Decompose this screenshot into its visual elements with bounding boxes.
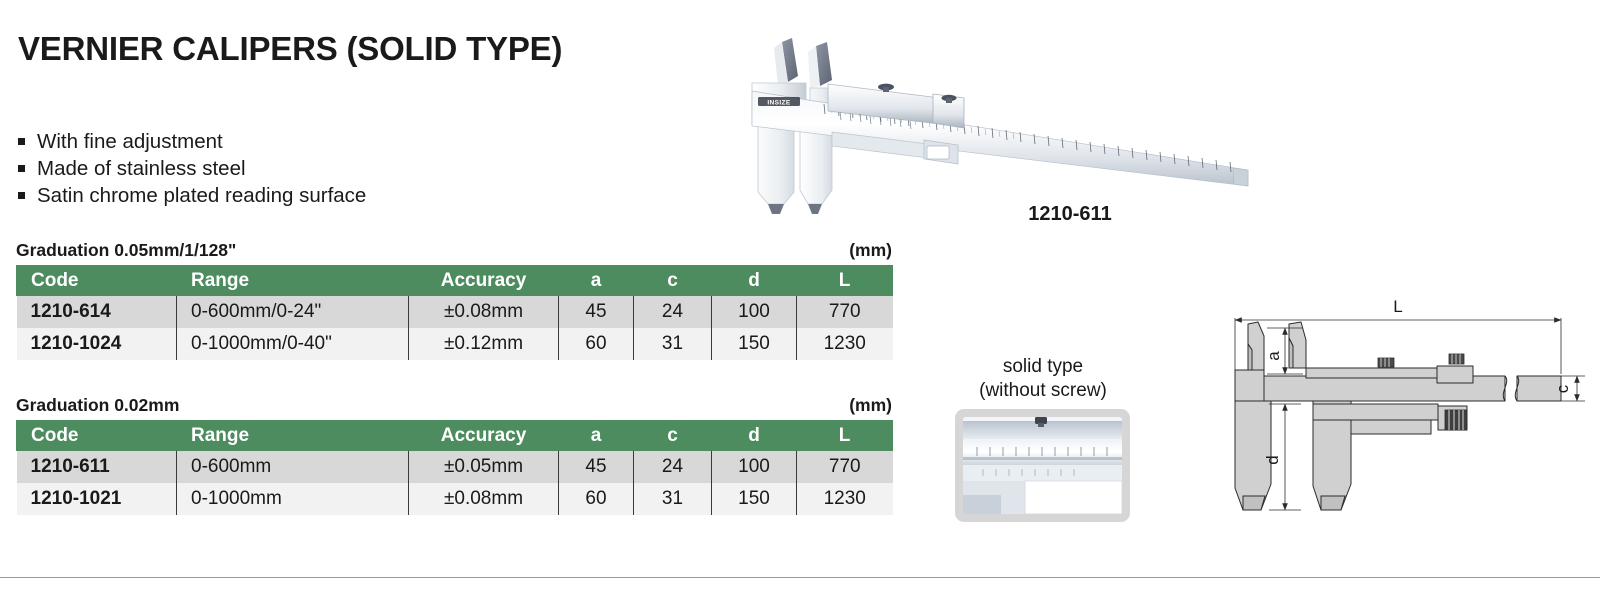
- dimension-L: [1235, 318, 1561, 374]
- feature-label: Made of stainless steel: [37, 155, 246, 182]
- cell-a: 45: [559, 451, 634, 483]
- solid-type-inset: solid type (without screw): [943, 355, 1143, 522]
- table-header-row: Code Range Accuracy a c d L: [17, 420, 893, 451]
- table-row: 1210-614 0-600mm/0-24" ±0.08mm 45 24 100…: [17, 296, 893, 328]
- table-caption-row: Graduation 0.02mm (mm): [16, 395, 892, 420]
- brand-mark-insize: INSIZE: [758, 97, 800, 107]
- screw-icon: [1378, 358, 1394, 367]
- column-header-range: Range: [177, 420, 409, 451]
- inset-photo: [963, 417, 1122, 514]
- list-item: Satin chrome plated reading surface: [18, 182, 366, 209]
- cell-range: 0-1000mm/0-40": [177, 328, 409, 360]
- inset-caption-line2: (without screw): [943, 379, 1143, 403]
- column-header-accuracy: Accuracy: [409, 420, 559, 451]
- spec-table-block-graduation-005: Graduation 0.05mm/1/128" (mm) Code Range…: [16, 240, 892, 360]
- table-header-row: Code Range Accuracy a c d L: [17, 265, 893, 296]
- cell-l: 770: [797, 451, 893, 483]
- column-header-accuracy: Accuracy: [409, 265, 559, 296]
- cell-code: 1210-1021: [17, 483, 177, 515]
- cell-c: 24: [634, 296, 712, 328]
- cell-d: 100: [712, 296, 797, 328]
- inset-caption-line1: solid type: [943, 355, 1143, 379]
- cell-c: 31: [634, 483, 712, 515]
- inset-caption: solid type (without screw): [943, 355, 1143, 403]
- spec-table: Code Range Accuracy a c d L 1210-614 0-6…: [16, 265, 893, 360]
- cell-l: 1230: [797, 328, 893, 360]
- square-bullet-icon: [18, 138, 25, 145]
- product-photo-caliper: INSIZE: [728, 28, 1258, 218]
- cell-accuracy: ±0.05mm: [409, 451, 559, 483]
- column-header-l: L: [797, 420, 893, 451]
- knurled-thumbwheel-icon: [1445, 410, 1467, 430]
- cell-a: 60: [559, 328, 634, 360]
- table-row: 1210-611 0-600mm ±0.05mm 45 24 100 770: [17, 451, 893, 483]
- spec-table-block-graduation-002: Graduation 0.02mm (mm) Code Range Accura…: [16, 395, 892, 515]
- cell-accuracy: ±0.08mm: [409, 483, 559, 515]
- list-item: Made of stainless steel: [18, 155, 366, 182]
- cell-code: 1210-614: [17, 296, 177, 328]
- table-row: 1210-1024 0-1000mm/0-40" ±0.12mm 60 31 1…: [17, 328, 893, 360]
- table-row: 1210-1021 0-1000mm ±0.08mm 60 31 150 123…: [17, 483, 893, 515]
- table-caption-row: Graduation 0.05mm/1/128" (mm): [16, 240, 892, 265]
- table-unit-label: (mm): [849, 395, 892, 416]
- column-header-d: d: [712, 420, 797, 451]
- cell-d: 150: [712, 328, 797, 360]
- dimension-label-c: c: [1553, 384, 1572, 393]
- column-header-a: a: [559, 420, 634, 451]
- cell-range: 0-600mm/0-24": [177, 296, 409, 328]
- column-header-code: Code: [17, 265, 177, 296]
- cell-d: 150: [712, 483, 797, 515]
- cell-l: 1230: [797, 483, 893, 515]
- product-photo-caption: 1210-611: [990, 203, 1150, 226]
- feature-list: With fine adjustment Made of stainless s…: [18, 128, 366, 209]
- inset-photo-frame: [955, 409, 1130, 522]
- svg-text:INSIZE: INSIZE: [767, 100, 791, 107]
- feature-label: Satin chrome plated reading surface: [37, 182, 366, 209]
- cell-c: 24: [634, 451, 712, 483]
- column-header-c: c: [634, 420, 712, 451]
- cell-code: 1210-611: [17, 451, 177, 483]
- caliper-dimension-diagram: L a c d: [1205, 288, 1595, 540]
- square-bullet-icon: [18, 165, 25, 172]
- dimension-label-d: d: [1263, 455, 1282, 464]
- column-header-c: c: [634, 265, 712, 296]
- column-header-d: d: [712, 265, 797, 296]
- cell-range: 0-600mm: [177, 451, 409, 483]
- dimension-label-L: L: [1393, 297, 1402, 316]
- cell-d: 100: [712, 451, 797, 483]
- screw-icon: [1449, 354, 1464, 364]
- caliper-illustration: INSIZE: [728, 28, 1258, 218]
- cell-code: 1210-1024: [17, 328, 177, 360]
- table-caption: Graduation 0.02mm: [16, 395, 179, 416]
- cell-range: 0-1000mm: [177, 483, 409, 515]
- list-item: With fine adjustment: [18, 128, 366, 155]
- square-bullet-icon: [18, 192, 25, 199]
- table-caption: Graduation 0.05mm/1/128": [16, 240, 236, 261]
- cell-a: 60: [559, 483, 634, 515]
- cell-accuracy: ±0.08mm: [409, 296, 559, 328]
- column-header-range: Range: [177, 265, 409, 296]
- cell-a: 45: [559, 296, 634, 328]
- column-header-l: L: [797, 265, 893, 296]
- column-header-a: a: [559, 265, 634, 296]
- break-symbol: [1503, 376, 1518, 401]
- cell-l: 770: [797, 296, 893, 328]
- spec-table: Code Range Accuracy a c d L 1210-611 0-6…: [16, 420, 893, 515]
- solid-type-closeup-illustration: [963, 417, 1122, 514]
- table-unit-label: (mm): [849, 240, 892, 261]
- cell-c: 31: [634, 328, 712, 360]
- column-header-code: Code: [17, 420, 177, 451]
- cell-accuracy: ±0.12mm: [409, 328, 559, 360]
- footer-divider: [0, 577, 1600, 578]
- technical-drawing: L a c d: [1205, 288, 1595, 540]
- page-title: VERNIER CALIPERS (SOLID TYPE): [18, 30, 562, 68]
- feature-label: With fine adjustment: [37, 128, 223, 155]
- dimension-label-a: a: [1264, 351, 1283, 361]
